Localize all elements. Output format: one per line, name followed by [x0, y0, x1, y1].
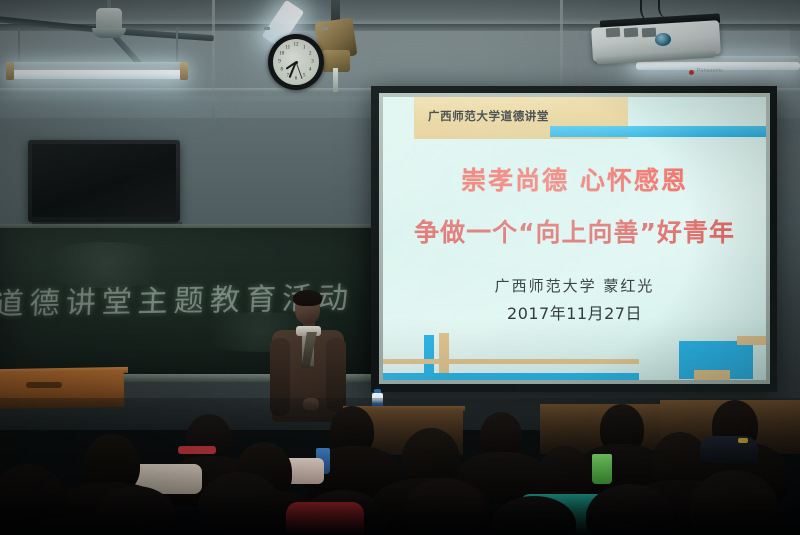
presentation-slide: 广西师范大学道德讲堂 崇孝尚德 心怀感恩 争做一个“向上向善”好青年 广西师范大…	[383, 97, 766, 380]
light-hanger	[18, 28, 20, 66]
clock-numeral: 2	[309, 51, 312, 56]
display-screen	[32, 144, 176, 217]
classroom-photo-scene: 12 1 2 3 4 5 6 7 8 9 10 11 Panasonic	[0, 0, 800, 535]
presenter-hair	[293, 290, 322, 306]
slide-decor-tan-tab-bottom	[694, 370, 730, 380]
clock-numeral: 9	[278, 60, 281, 65]
slide-date: 2017年11月27日	[383, 300, 766, 324]
slide-header-blue-bar	[550, 126, 766, 137]
projection-screen: 广西师范大学道德讲堂 崇孝尚德 心怀感恩 争做一个“向上向善”好青年 广西师范大…	[371, 86, 777, 392]
projector-vent	[642, 28, 657, 38]
clock-center-pin	[295, 61, 298, 64]
cap-emblem	[738, 438, 748, 443]
projector-vent	[624, 28, 639, 38]
tube-endcap	[6, 62, 14, 80]
audience-cap	[700, 436, 758, 462]
clock-lug	[322, 27, 328, 30]
clock-numeral: 5	[303, 74, 306, 79]
clock-numeral: 10	[279, 51, 284, 56]
tube-light-left	[10, 70, 182, 79]
projector-cable	[658, 0, 672, 18]
wall-clock: 12 1 2 3 4 5 6 7 8 9 10 11	[268, 34, 324, 90]
wall-logo-label: Panasonic	[697, 68, 723, 74]
slide-decor-rule-blue	[383, 373, 639, 380]
clock-numeral: 4	[309, 68, 312, 73]
tube-endcap	[180, 62, 188, 80]
wall-logo-icon	[689, 70, 694, 75]
clock-numeral: 3	[311, 60, 314, 65]
fan-housing	[92, 28, 126, 38]
slide-title-line-1: 崇孝尚德 心怀感恩	[383, 161, 766, 197]
lectern-handle	[26, 382, 62, 388]
slide-decor-rule-tan	[383, 359, 639, 364]
red-hairband	[178, 446, 216, 454]
light-hanger	[176, 28, 178, 66]
clock-numeral: 1	[303, 45, 306, 50]
clock-lug	[264, 27, 270, 30]
wall-flat-panel-display	[28, 140, 180, 222]
slide-decor-tan-tab-top	[737, 336, 766, 345]
audience-bottom-fade	[0, 493, 800, 535]
clock-face: 12 1 2 3 4 5 6 7 8 9 10 11	[273, 39, 319, 85]
projector-vent	[606, 28, 621, 38]
audience-green-thermos	[592, 454, 612, 484]
clock-numeral: 6	[295, 76, 298, 81]
clock-numeral: 11	[285, 45, 290, 50]
hanging-fixture-stem	[333, 68, 338, 92]
clock-numeral: 12	[294, 43, 299, 48]
slide-header-text: 广西师范大学道德讲堂	[428, 108, 549, 124]
audience-area	[0, 398, 800, 535]
slide-affiliation: 广西师范大学 蒙红光	[383, 275, 766, 296]
slide-title-line-2: 争做一个“向上向善”好青年	[383, 213, 766, 249]
clock-numeral: 8	[280, 68, 283, 73]
